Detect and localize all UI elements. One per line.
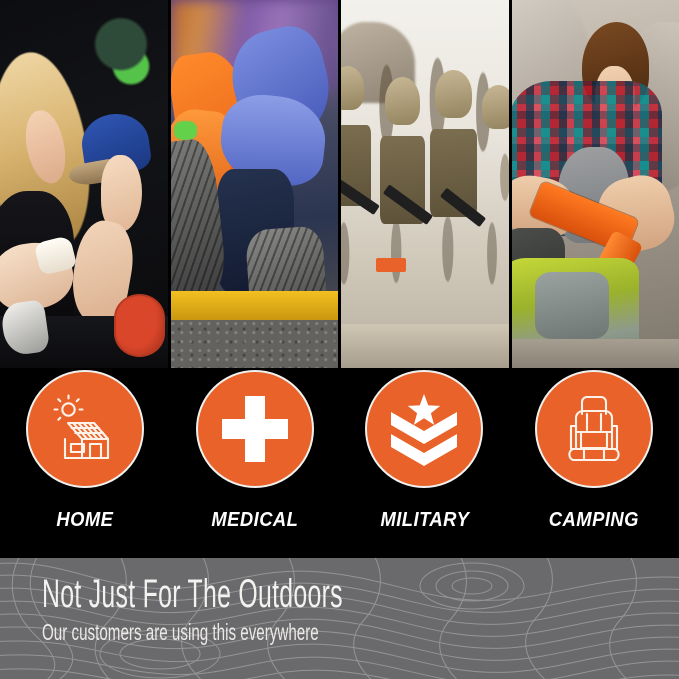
promo-graphic: HOME MEDICAL MILITARY CAMPING [0,0,679,679]
category-label-medical: MEDICAL [177,505,333,535]
solar-house-icon [48,392,122,466]
page-title: Not Just For The Outdoors [42,572,414,616]
category-label-military: MILITARY [346,505,502,535]
medical-photo-backboard [171,291,342,324]
photo-strip [0,0,679,368]
military-photo-helmet-3 [435,70,472,118]
military-photo-helmet-2 [385,77,420,125]
category-medical[interactable] [170,370,340,492]
military-photo-orange-marker [376,258,406,273]
headline-band: Not Just For The Outdoors Our customers … [0,558,679,679]
camping-photo-ground [512,339,679,368]
medical-cross-icon [218,392,292,466]
military-photo-helmet-4 [482,85,512,129]
category-home[interactable] [0,370,170,492]
medical-photo [171,0,342,368]
medical-icon-badge[interactable] [196,370,314,488]
camping-photo-backpack-panel [535,272,609,338]
category-label-row: HOME MEDICAL MILITARY CAMPING [0,505,679,535]
medical-photo-green-detail [174,121,197,139]
medical-photo-asphalt [171,320,339,368]
category-military[interactable] [340,370,510,492]
camping-photo [512,0,679,368]
military-chevron-star-icon [387,392,461,466]
headline-text-block: Not Just For The Outdoors Our customers … [42,572,642,646]
category-label-camping: CAMPING [516,505,672,535]
home-photo-tape-roll [114,294,165,357]
military-icon-badge[interactable] [365,370,483,488]
home-photo [0,0,171,368]
camping-icon-badge[interactable] [535,370,653,488]
category-label-home: HOME [7,505,163,535]
military-photo [341,0,512,368]
category-icon-row [0,370,679,492]
category-camping[interactable] [509,370,679,492]
page-subtitle: Our customers are using this everywhere [42,618,438,646]
home-icon-badge[interactable] [26,370,144,488]
backpack-icon [557,392,631,466]
